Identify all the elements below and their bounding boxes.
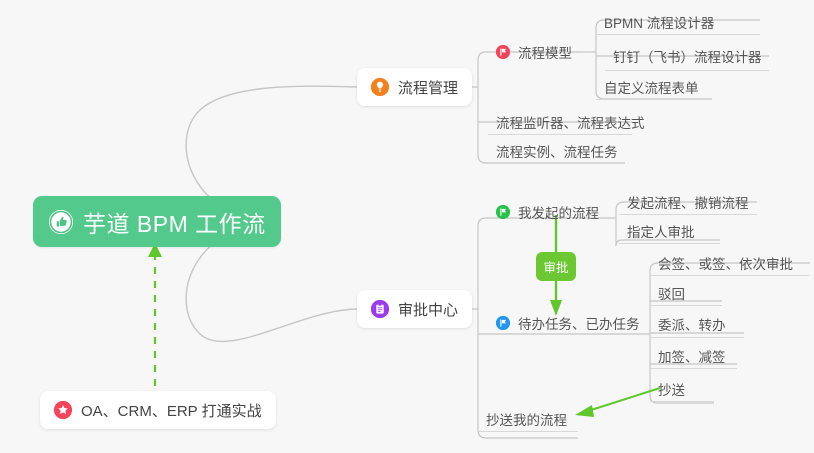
leaf-label: 抄送 [658, 379, 685, 399]
star-icon [54, 401, 72, 419]
node-todo-done-tasks[interactable]: 待办任务、已办任务 [492, 309, 644, 337]
approval-callout-label: 审批 [543, 257, 568, 276]
integration-dashed-arrow [148, 243, 162, 400]
flag-icon [496, 316, 510, 330]
node-label: 流程模型 [518, 42, 572, 62]
mindmap-canvas: 芋道 BPM 工作流 流程管理 流程模型 BPMN 流程设计器 钉 [0, 0, 814, 453]
flag-icon [496, 45, 510, 59]
leaf-underline [488, 134, 632, 135]
root-label: 芋道 BPM 工作流 [83, 205, 266, 239]
leaf-underline [596, 99, 712, 100]
leaf-label: 钉钉（飞书）流程设计器 [613, 46, 762, 66]
leaf-label: 委派、转办 [658, 314, 726, 334]
leaf-underline [650, 368, 737, 369]
leaf-label: 会签、或签、依次审批 [658, 253, 793, 273]
branch-node-approval-center[interactable]: 审批中心 [357, 290, 472, 328]
leaf-cc-to-me[interactable]: 抄送我的流程 [482, 405, 571, 433]
leaf-label: 发起流程、撤销流程 [627, 192, 749, 212]
leaf-delegate-transfer[interactable]: 委派、转办 [654, 310, 730, 338]
node-my-initiated-process[interactable]: 我发起的流程 [492, 198, 603, 226]
leaf-label: 抄送我的流程 [486, 409, 567, 429]
leaf-start-cancel-process[interactable]: 发起流程、撤销流程 [623, 188, 753, 216]
leaf-process-listener[interactable]: 流程监听器、流程表达式 [492, 108, 649, 136]
node-label: 待办任务、已办任务 [518, 313, 640, 333]
branch-node-process-management[interactable]: 流程管理 [357, 68, 472, 106]
leaf-underline [478, 431, 578, 432]
leaf-underline [650, 401, 714, 402]
leaf-label: 流程监听器、流程表达式 [496, 112, 645, 132]
leaf-process-instance[interactable]: 流程实例、流程任务 [492, 137, 622, 165]
leaf-underline [650, 305, 722, 306]
leaf-label: 流程实例、流程任务 [496, 141, 618, 161]
footnote-label: OA、CRM、ERP 打通实战 [81, 400, 262, 421]
leaf-add-remove-sign[interactable]: 加签、减签 [654, 342, 730, 370]
leaf-reject[interactable]: 驳回 [654, 279, 689, 307]
clipboard-icon [371, 300, 389, 318]
leaf-cc[interactable]: 抄送 [654, 375, 689, 403]
leaf-underline [605, 70, 769, 71]
branch-label: 审批中心 [398, 299, 458, 320]
leaf-bpmn-designer[interactable]: BPMN 流程设计器 [600, 8, 718, 36]
leaf-underline [596, 34, 760, 35]
cc-flow-arrow [575, 388, 660, 417]
node-process-model[interactable]: 流程模型 [492, 38, 576, 66]
root-node[interactable]: 芋道 BPM 工作流 [33, 196, 281, 247]
lightbulb-icon [371, 78, 389, 96]
leaf-underline [619, 243, 720, 244]
leaf-assignee-approval[interactable]: 指定人审批 [623, 217, 699, 245]
leaf-label: 加签、减签 [658, 346, 726, 366]
node-label: 我发起的流程 [518, 202, 599, 222]
leaf-countersign[interactable]: 会签、或签、依次审批 [654, 249, 797, 277]
branch-label: 流程管理 [398, 77, 458, 98]
leaf-label: BPMN 流程设计器 [604, 12, 714, 32]
leaf-underline [650, 337, 744, 338]
leaf-underline [650, 275, 810, 276]
leaf-underline [619, 214, 757, 215]
leaf-label: 驳回 [658, 283, 685, 303]
leaf-label: 指定人审批 [627, 221, 695, 241]
approval-callout[interactable]: 审批 [536, 252, 576, 281]
thumbs-up-icon [49, 210, 73, 234]
leaf-underline [488, 163, 625, 164]
leaf-custom-form[interactable]: 自定义流程表单 [600, 73, 703, 101]
leaf-dingtalk-designer[interactable]: 钉钉（飞书）流程设计器 [609, 42, 766, 70]
footnote-node-integration[interactable]: OA、CRM、ERP 打通实战 [40, 391, 276, 429]
flag-icon [496, 205, 510, 219]
leaf-label: 自定义流程表单 [604, 77, 699, 97]
